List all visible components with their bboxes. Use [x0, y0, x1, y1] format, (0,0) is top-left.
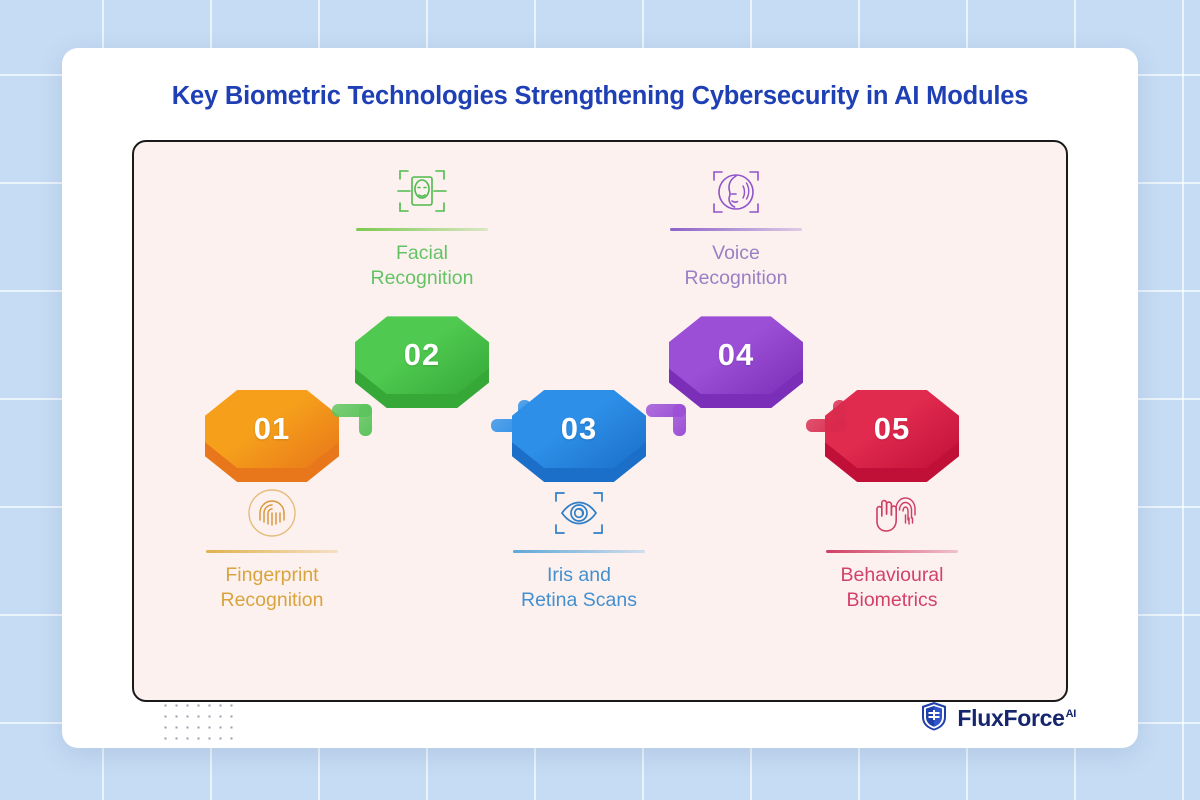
step-divider [826, 550, 958, 553]
connector-arm-vertical [833, 400, 846, 432]
step-label-line2: Recognition [162, 588, 382, 614]
step-number: 04 [718, 337, 754, 373]
connector-03-to-04 [646, 404, 686, 436]
step-label: Voice Recognition [626, 241, 846, 293]
step-label-line2: Retina Scans [469, 588, 689, 614]
face-scan-icon [312, 160, 532, 222]
step-number: 01 [254, 411, 290, 447]
step-label-line2: Recognition [312, 266, 532, 292]
connector-arm-vertical [518, 400, 531, 432]
step-label: Facial Recognition [312, 241, 532, 293]
badge-face: 04 [669, 316, 803, 394]
dot-grid-decoration [160, 700, 236, 744]
fingerprint-icon [162, 482, 382, 544]
brand-name-text: FluxForce [957, 705, 1064, 731]
step-divider [206, 550, 338, 553]
connector-02-to-03 [491, 400, 531, 432]
page-title: Key Biometric Technologies Strengthening… [62, 82, 1138, 111]
step-divider [356, 228, 488, 231]
step-label-line1: Behavioural [782, 563, 1002, 589]
step-facial-recognition[interactable]: Facial Recognition 02 [312, 160, 532, 408]
brand-logo[interactable]: FluxForceAI [920, 701, 1076, 736]
step-divider [670, 228, 802, 231]
step-label-line1: Fingerprint [162, 563, 382, 589]
step-label: Fingerprint Recognition [162, 563, 382, 615]
diagram-panel: 01 [132, 140, 1068, 702]
step-number: 03 [561, 411, 597, 447]
step-label-line2: Recognition [626, 266, 846, 292]
step-voice-recognition[interactable]: Voice Recognition 04 [626, 160, 846, 408]
shield-icon [920, 701, 948, 736]
badge-face: 02 [355, 316, 489, 394]
step-label-line2: Biometrics [782, 588, 1002, 614]
infographic-card: Key Biometric Technologies Strengthening… [62, 48, 1138, 748]
connector-04-to-05 [806, 400, 846, 432]
step-label-line1: Voice [626, 241, 846, 267]
step-label: Behavioural Biometrics [782, 563, 1002, 615]
connector-arm-vertical [359, 404, 372, 436]
step-label-line1: Facial [312, 241, 532, 267]
brand-name: FluxForceAI [957, 705, 1076, 732]
step-label: Iris and Retina Scans [469, 563, 689, 615]
connector-01-to-02 [332, 404, 372, 436]
step-number: 02 [404, 337, 440, 373]
step-divider [513, 550, 645, 553]
eye-scan-icon [469, 482, 689, 544]
brand-superscript: AI [1066, 708, 1076, 720]
hand-fingerprint-icon [782, 482, 1002, 544]
voice-scan-icon [626, 160, 846, 222]
connector-arm-vertical [673, 404, 686, 436]
step-number: 05 [874, 411, 910, 447]
step-label-line1: Iris and [469, 563, 689, 589]
